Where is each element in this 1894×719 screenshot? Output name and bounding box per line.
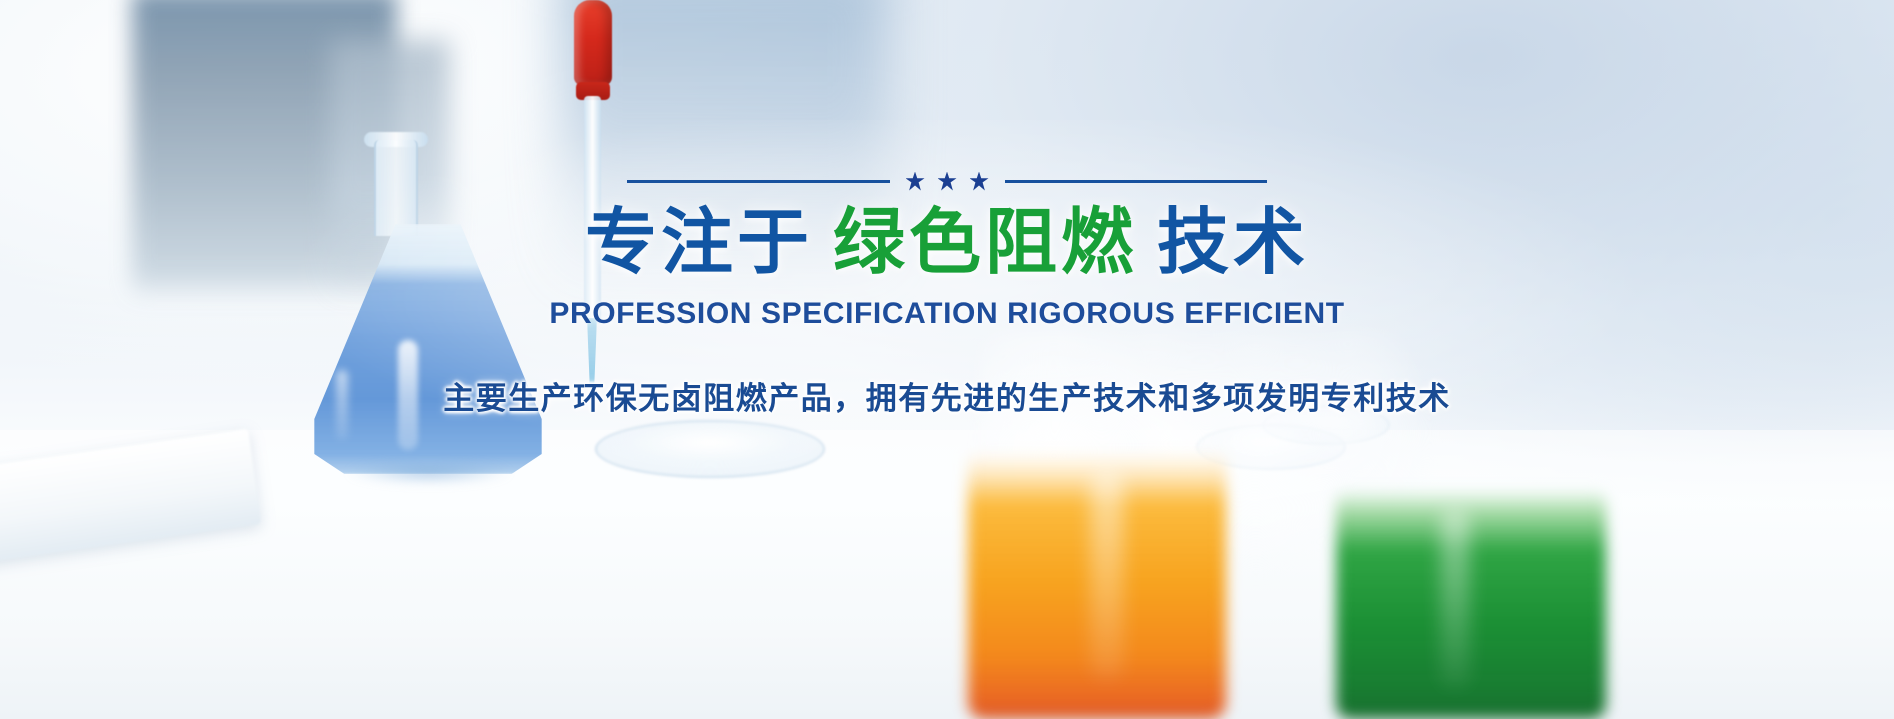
star-icon [938, 172, 957, 191]
page-title: 专注于绿色阻燃技术 [585, 205, 1309, 281]
headline-part-2: 绿色阻燃 [833, 203, 1137, 283]
divider-line-right [1005, 180, 1268, 183]
headline-part-1: 专注于 [585, 203, 813, 283]
divider-line-left [627, 180, 890, 183]
subtitle-chinese: 主要生产环保无卤阻燃产品，拥有先进的生产技术和多项发明专利技术 [443, 373, 1451, 418]
star-icon [970, 172, 989, 191]
star-icon [906, 172, 925, 191]
star-group [906, 172, 989, 191]
banner-content: 专注于绿色阻燃技术 PROFESSION SPECIFICATION RIGOR… [0, 0, 1894, 719]
headline-part-3: 技术 [1157, 203, 1309, 283]
hero-banner: 专注于绿色阻燃技术 PROFESSION SPECIFICATION RIGOR… [0, 0, 1894, 719]
subtitle-english: PROFESSION SPECIFICATION RIGOROUS EFFICI… [549, 297, 1344, 331]
title-divider [627, 170, 1267, 192]
